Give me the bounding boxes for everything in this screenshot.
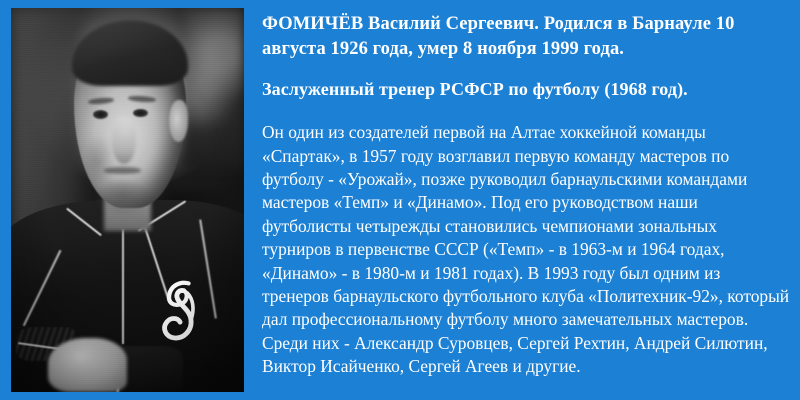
dynamo-monogram-icon xyxy=(151,269,212,353)
hair xyxy=(72,20,189,85)
tracksuit-zipper xyxy=(122,229,124,344)
lead-paragraph: ФОМИЧЁВ Василий Сергеевич. Родился в Бар… xyxy=(262,12,790,61)
mouth xyxy=(104,167,141,173)
eye-left xyxy=(93,110,108,119)
biography-text: ФОМИЧЁВ Василий Сергеевич. Родился в Бар… xyxy=(262,12,790,379)
portrait-photo xyxy=(11,8,244,392)
photo-canvas xyxy=(11,8,244,392)
biography-slide: ФОМИЧЁВ Василий Сергеевич. Родился в Бар… xyxy=(0,0,800,400)
photo-background-shelf xyxy=(183,8,244,169)
chin-shadow xyxy=(95,181,151,216)
nose xyxy=(112,117,135,163)
cheek-shadow xyxy=(81,135,114,189)
body-paragraph: Он один из создателей первой на Алтае хо… xyxy=(262,121,790,378)
subhead-paragraph: Заслуженный тренер РСФСР по футболу (196… xyxy=(262,78,790,102)
hands xyxy=(48,338,127,392)
